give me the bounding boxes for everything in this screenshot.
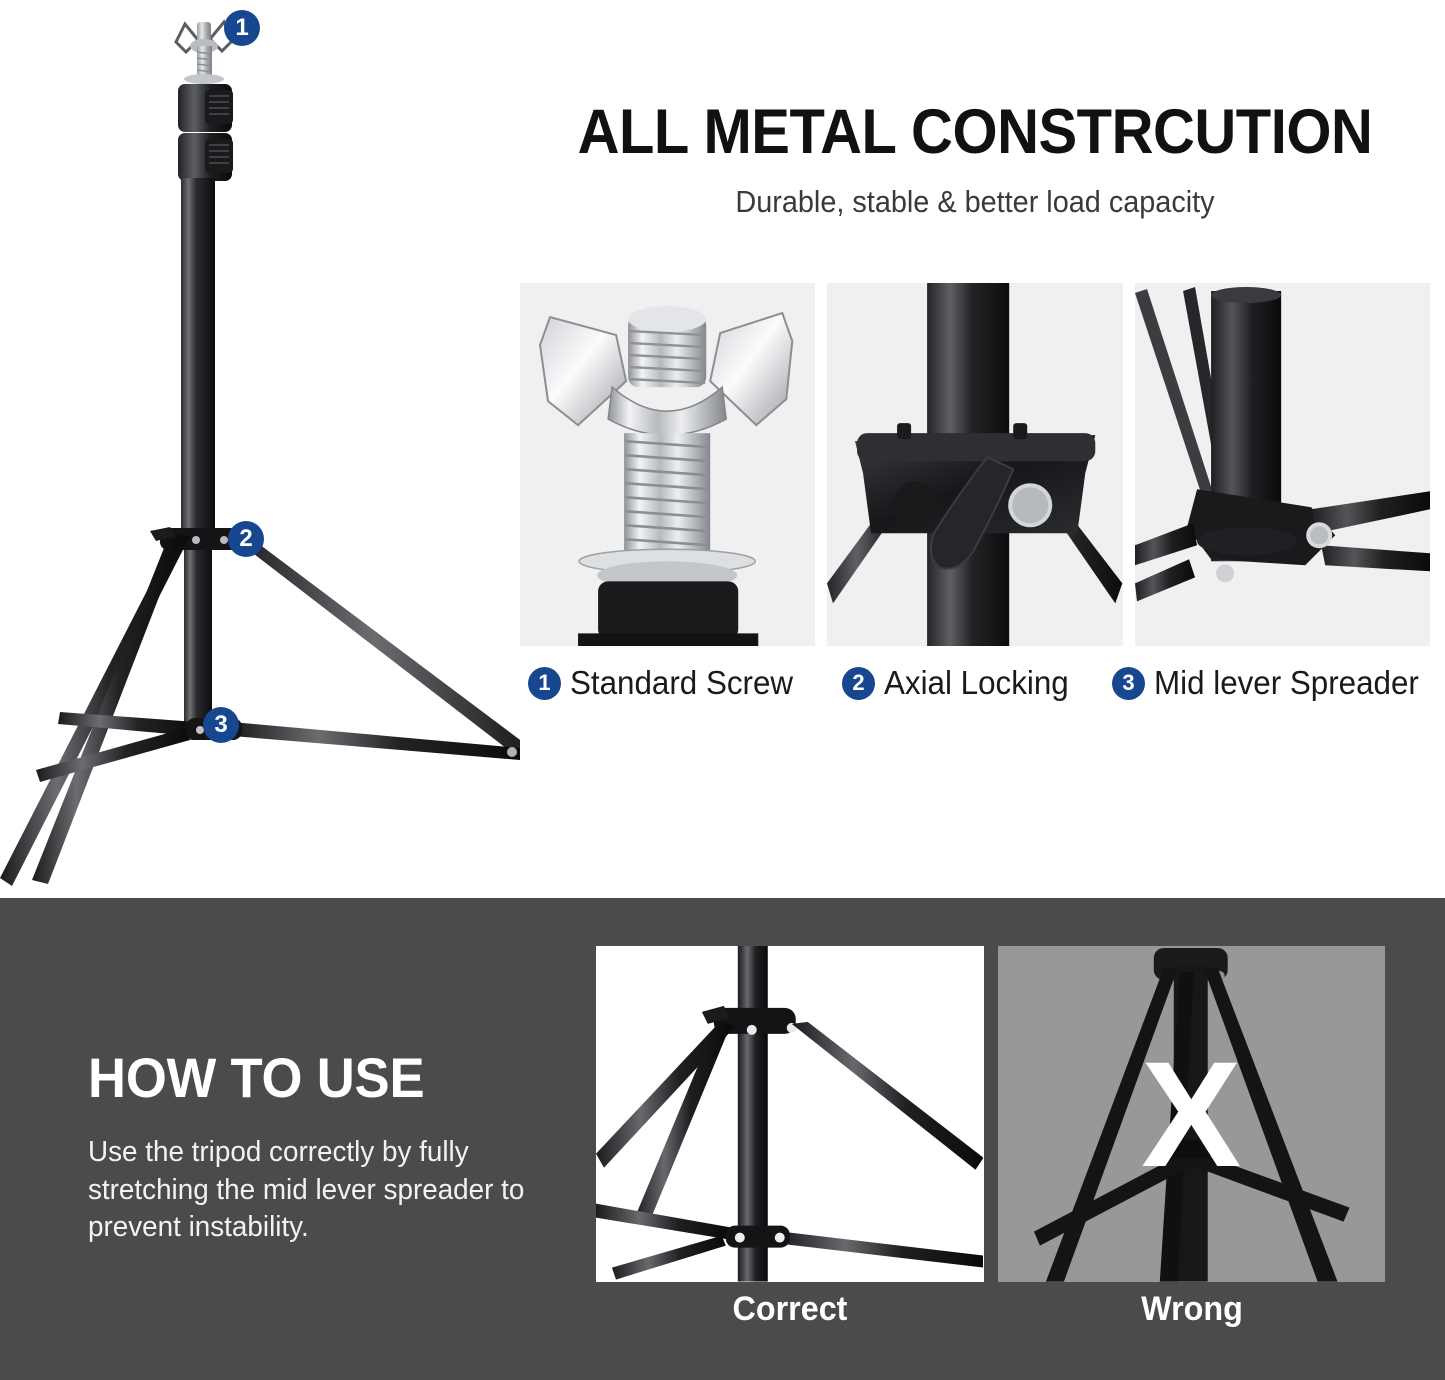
caption-label-3: Mid lever Spreader [1154,664,1419,702]
wrong-x-mark: X [998,1039,1386,1189]
headline-block: ALL METAL CONSTRCUTION Durable, stable &… [520,100,1430,220]
caption-label-2: Axial Locking [884,664,1069,702]
feature-photo-axial-locking [827,283,1122,646]
tripod-drawing [0,0,520,898]
callout-badge-2: 2 [228,521,264,557]
how-to-use-text-block: HOW TO USE Use the tripod correctly by f… [88,1050,558,1247]
feature-photo-standard-screw [520,283,815,646]
callout-badge-1: 1 [224,10,260,46]
feature-caption-1: 1 Standard Screw [528,660,805,706]
all-metal-construction-section: 1 2 3 ALL METAL CONSTRCUTION Durable, st… [0,0,1445,898]
feature-caption-2: 2 Axial Locking [842,660,1078,706]
compare-label-correct: Correct [606,1290,975,1329]
caption-label-1: Standard Screw [570,664,793,702]
tripod-legs [0,532,520,892]
caption-badge-1: 1 [528,667,561,700]
mid-lever-spreader-photo [1135,283,1430,646]
caption-badge-3: 3 [1112,667,1145,700]
caption-badge-2: 2 [842,667,875,700]
tripod-spreader-extended-photo [596,946,983,1282]
locking-knobs-graphic [178,84,233,181]
compare-label-wrong: Wrong [1008,1290,1377,1329]
axial-locking-hub-photo [827,283,1122,646]
how-to-use-body: Use the tripod correctly by fully stretc… [88,1134,539,1247]
feature-caption-3: 3 Mid lever Spreader [1112,660,1433,706]
leg-hub-graphic [150,527,238,550]
how-to-use-title: HOW TO USE [88,1050,530,1106]
compare-photo-row: X [596,946,1385,1282]
compare-label-row: Correct Wrong [596,1290,1385,1346]
mid-lever-spreader-graphic [36,712,520,782]
feature-caption-row: 1 Standard Screw 2 Axial Locking 3 Mid l… [520,660,1438,706]
how-to-use-section: HOW TO USE Use the tripod correctly by f… [0,898,1445,1380]
wing-screw-photo [520,283,815,646]
product-infographic: 1 2 3 ALL METAL CONSTRCUTION Durable, st… [0,0,1445,1380]
page-subtitle: Durable, stable & better load capacity [552,184,1398,220]
page-title: ALL METAL CONSTRCUTION [556,100,1393,166]
center-column [181,178,215,550]
compare-photo-wrong: X [998,946,1386,1282]
feature-photo-mid-lever-spreader [1135,283,1430,646]
callout-badge-3: 3 [203,707,239,743]
feature-photo-row [520,283,1430,646]
tripod-illustration: 1 2 3 [0,0,520,898]
compare-photo-correct [596,946,984,1282]
